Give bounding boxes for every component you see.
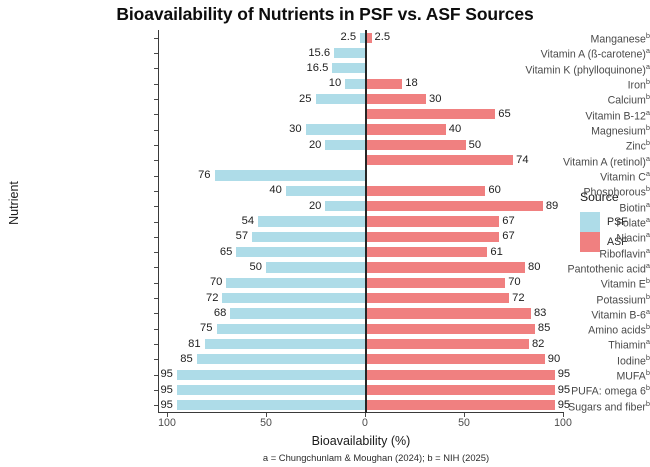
x-tick-label: 100 [554,418,572,429]
y-tick-text: Folate [616,217,645,229]
y-tick-mark [154,298,158,299]
y-tick-mark [154,191,158,192]
bar-asf[interactable] [367,278,506,288]
bar-psf[interactable] [177,385,365,395]
y-tick-text: Vitamin C [600,171,646,183]
y-tick-source-superscript: b [646,77,650,86]
bar-asf[interactable] [367,232,500,242]
y-tick-label: Phosphorousb [498,185,650,198]
bar-psf[interactable] [306,124,365,134]
bar-psf[interactable] [334,48,365,58]
y-tick-mark [154,84,158,85]
bar-asf[interactable] [367,293,510,303]
bar-value-label-psf: 70 [164,277,222,288]
y-tick-source-superscript: b [646,368,650,377]
y-tick-label: Potassiumb [498,293,650,306]
y-tick-source-superscript: a [646,108,650,117]
y-tick-text: MUFA [616,371,645,383]
y-tick-label: Vitamin K (phylloquinone)a [498,63,650,76]
y-tick-mark [154,359,158,360]
bar-psf[interactable] [325,201,365,211]
y-tick-source-superscript: a [646,62,650,71]
bar-value-label-psf: 75 [155,323,213,334]
y-tick-label: Zincb [498,139,650,152]
bar-psf[interactable] [197,354,365,364]
y-tick-mark [154,267,158,268]
y-tick-text: Magnesium [591,126,646,138]
x-tick-label: 100 [158,418,176,429]
y-tick-label: Iodineb [498,354,650,367]
y-tick-source-superscript: b [646,276,650,285]
y-axis-title: Nutrient [7,153,21,253]
bar-value-label-psf: 95 [115,385,173,396]
y-tick-mark [154,375,158,376]
x-axis-title: Bioavailability (%) [158,434,564,448]
y-tick-mark [154,405,158,406]
y-tick-text: Iron [628,80,646,92]
bar-asf[interactable] [367,124,446,134]
y-tick-mark [154,176,158,177]
y-tick-text: Calcium [608,95,646,107]
y-tick-mark [154,145,158,146]
y-tick-source-superscript: b [646,292,650,301]
bar-asf[interactable] [367,33,372,43]
y-tick-source-superscript: a [646,215,650,224]
y-tick-text: Iodine [617,355,646,367]
y-tick-mark [154,38,158,39]
bar-asf[interactable] [367,140,466,150]
y-tick-mark [154,329,158,330]
y-tick-source-superscript: a [646,337,650,346]
bar-value-label-psf: 10 [283,78,341,89]
bar-value-label-asf: 18 [405,78,417,89]
bar-psf[interactable] [215,170,365,180]
x-tick-mark [167,413,168,417]
bar-psf[interactable] [177,400,365,410]
x-tick-label: 50 [260,418,272,429]
y-tick-label: MUFAb [498,369,650,382]
y-tick-label: Biotina [498,201,650,214]
bar-asf[interactable] [367,155,514,165]
y-tick-text: Amino acids [588,325,646,337]
x-tick-label: 50 [458,418,470,429]
bar-psf[interactable] [230,308,365,318]
y-tick-mark [154,237,158,238]
bar-asf[interactable] [367,247,488,257]
bar-psf[interactable] [332,63,365,73]
y-tick-label: Vitamin B-12a [498,109,650,122]
y-tick-mark [154,53,158,54]
bar-asf[interactable] [367,216,500,226]
y-tick-text: Potassium [596,294,645,306]
bar-psf[interactable] [217,324,366,334]
y-tick-label: Ironb [498,78,650,91]
y-tick-label: Riboflavina [498,247,650,260]
y-tick-source-superscript: b [646,383,650,392]
y-tick-text: PUFA: omega 6 [571,386,646,398]
bar-value-label-psf: 72 [160,293,218,304]
zero-reference-line [365,30,367,413]
bar-value-label-asf: 2.5 [375,32,391,43]
y-tick-mark [154,99,158,100]
y-tick-source-superscript: b [646,322,650,331]
y-tick-text: Manganese [591,34,646,46]
x-tick-label: 0 [362,418,368,429]
y-tick-source-superscript: a [646,154,650,163]
bar-psf[interactable] [236,247,365,257]
y-tick-text: Thiamin [608,340,646,352]
bar-psf[interactable] [222,293,365,303]
y-tick-text: Vitamin B-12 [585,110,645,122]
y-tick-mark [154,283,158,284]
bar-value-label-psf: 68 [168,308,226,319]
chart-caption: a = Chungchunlam & Moughan (2024); b = N… [158,452,594,463]
bar-value-label-psf: 57 [190,231,248,242]
bar-psf[interactable] [177,370,365,380]
bar-value-label-psf: 30 [244,124,302,135]
y-tick-text: Vitamin A (ß-carotene) [541,49,646,61]
bar-value-label-psf: 76 [153,170,211,181]
bar-value-label-psf: 54 [196,216,254,227]
y-tick-label: Niacina [498,231,650,244]
y-tick-text: Niacin [616,233,645,245]
y-tick-source-superscript: b [646,123,650,132]
bar-value-label-psf: 16.5 [270,63,328,74]
y-tick-label: PUFA: omega 6b [498,384,650,397]
y-tick-source-superscript: a [646,230,650,239]
bar-asf[interactable] [367,109,496,119]
bar-psf[interactable] [266,262,365,272]
y-tick-source-superscript: b [646,138,650,147]
y-tick-text: Vitamin K (phylloquinone) [525,64,646,76]
bar-psf[interactable] [286,186,365,196]
bar-psf[interactable] [258,216,365,226]
y-tick-mark [154,114,158,115]
bar-value-label-psf: 95 [115,400,173,411]
y-tick-label: Pantothenic acida [498,262,650,275]
y-tick-text: Phosphorous [583,187,645,199]
bar-value-label-psf: 40 [224,185,282,196]
y-tick-label: Vitamin A (ß-carotene)a [498,47,650,60]
y-tick-source-superscript: b [646,184,650,193]
y-tick-text: Sugars and fiber [568,401,646,413]
bar-value-label-psf: 20 [263,201,321,212]
bar-asf[interactable] [367,186,486,196]
y-tick-source-superscript: b [646,92,650,101]
y-tick-source-superscript: b [646,399,650,408]
y-tick-text: Vitamin B-6 [591,309,646,321]
y-tick-source-superscript: a [646,261,650,270]
y-tick-mark [154,252,158,253]
bar-value-label-psf: 81 [143,339,201,350]
x-tick-mark [464,413,465,417]
y-tick-source-superscript: a [646,246,650,255]
bar-psf[interactable] [316,94,366,104]
y-tick-text: Biotin [619,202,646,214]
bar-value-label-asf: 30 [429,94,441,105]
y-tick-source-superscript: a [646,169,650,178]
bar-psf[interactable] [252,232,365,242]
y-tick-text: Pantothenic acid [568,263,646,275]
y-tick-label: Manganeseb [498,32,650,45]
bar-asf[interactable] [367,79,403,89]
x-tick-mark [266,413,267,417]
bar-value-label-psf: 20 [263,140,321,151]
bar-psf[interactable] [226,278,365,288]
x-tick-mark [365,413,366,417]
y-tick-source-superscript: a [646,307,650,316]
y-tick-mark [154,313,158,314]
y-tick-label: Vitamin Ca [498,170,650,183]
chart-title: Bioavailability of Nutrients in PSF vs. … [0,4,650,25]
x-tick-mark [563,413,564,417]
y-tick-mark [154,130,158,131]
y-tick-label: Folatea [498,216,650,229]
bar-value-label-psf: 85 [135,354,193,365]
bar-value-label-psf: 95 [115,369,173,380]
y-tick-source-superscript: b [646,353,650,362]
y-tick-mark [154,390,158,391]
y-tick-label: Calciumb [498,93,650,106]
bar-psf[interactable] [205,339,365,349]
y-tick-text: Vitamin A (retinol) [563,156,646,168]
bar-value-label-psf: 25 [254,94,312,105]
y-tick-source-superscript: a [646,200,650,209]
bar-value-label-psf: 65 [174,247,232,258]
y-tick-mark [154,222,158,223]
bar-value-label-psf: 15.6 [272,48,330,59]
bar-value-label-psf: 2.5 [298,32,356,43]
y-tick-mark [154,206,158,207]
y-tick-source-superscript: b [646,31,650,40]
y-tick-source-superscript: a [646,46,650,55]
y-tick-label: Magnesiumb [498,124,650,137]
bar-psf[interactable] [345,79,365,89]
y-tick-text: Riboflavin [599,248,646,260]
y-tick-label: Sugars and fiberb [498,400,650,413]
bar-value-label-asf: 50 [469,140,481,151]
y-tick-mark [154,344,158,345]
y-tick-label: Thiamina [498,338,650,351]
y-tick-label: Vitamin A (retinol)a [498,155,650,168]
y-tick-mark [154,160,158,161]
y-tick-text: Zinc [626,141,646,153]
bar-asf[interactable] [367,94,426,104]
y-tick-mark [154,68,158,69]
bar-value-label-psf: 50 [204,262,262,273]
y-tick-text: Vitamin E [601,279,646,291]
bar-psf[interactable] [325,140,365,150]
y-tick-label: Amino acidsb [498,323,650,336]
y-tick-label: Vitamin B-6a [498,308,650,321]
bar-value-label-asf: 40 [449,124,461,135]
y-tick-label: Vitamin Eb [498,277,650,290]
